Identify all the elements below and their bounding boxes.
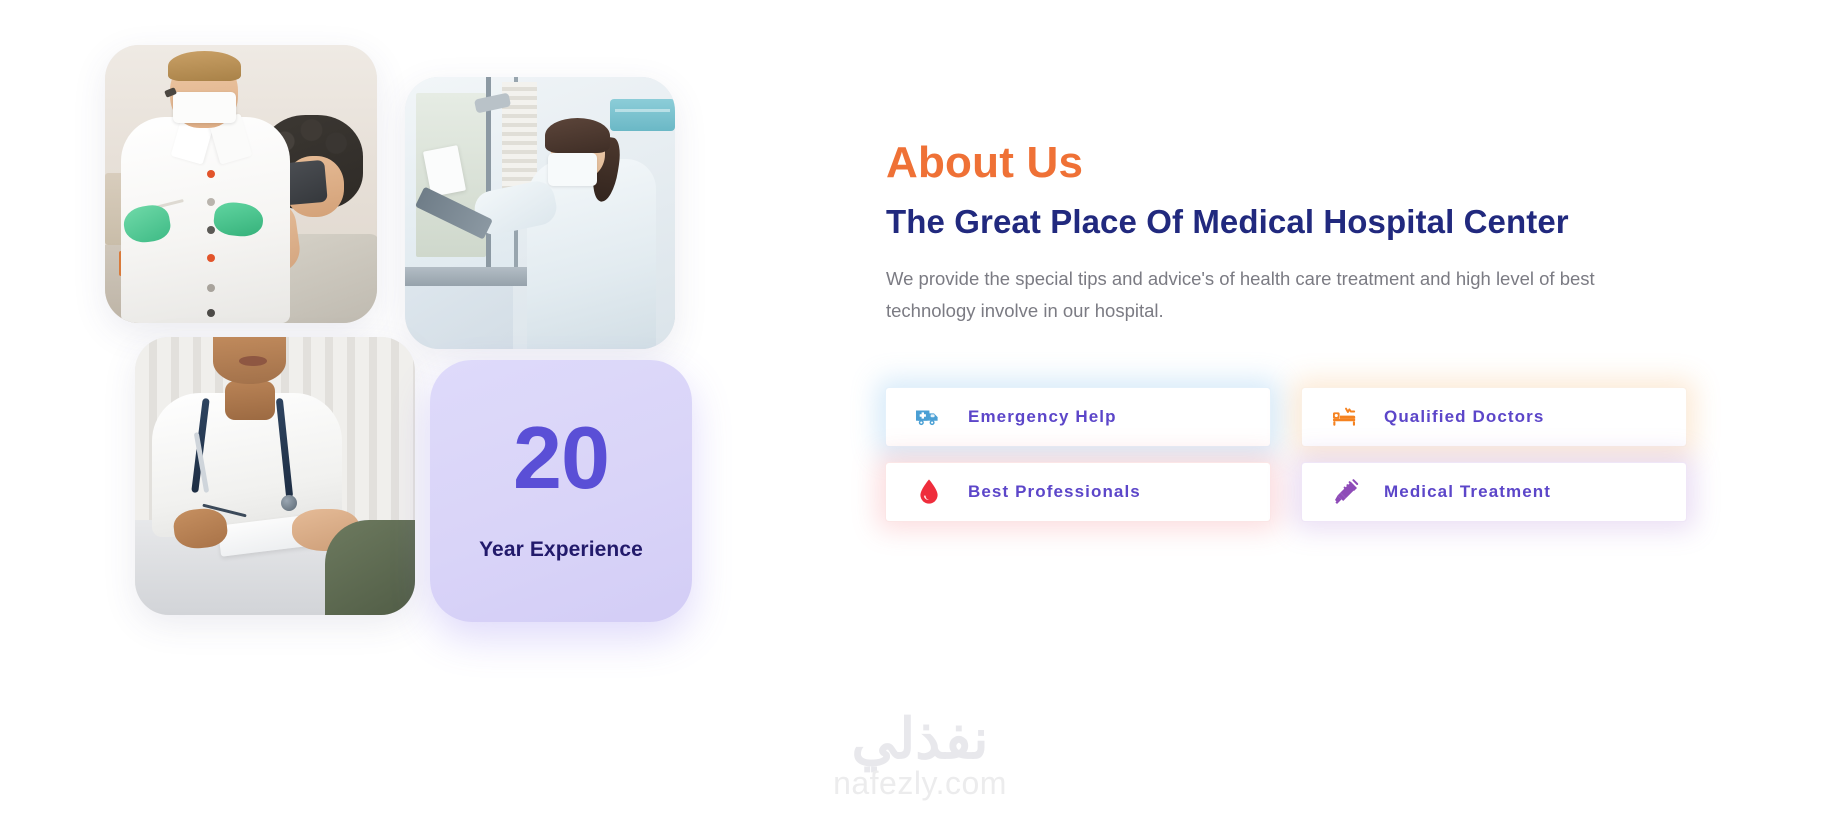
feature-label: Medical Treatment xyxy=(1384,482,1551,502)
about-text-block: About Us The Great Place Of Medical Hosp… xyxy=(886,140,1686,327)
feature-card-emergency-help[interactable]: Emergency Help xyxy=(886,388,1270,446)
watermark-latin-text: nafezly.com xyxy=(805,767,1035,799)
experience-label: Year Experience xyxy=(479,538,643,562)
consultation-photo xyxy=(135,337,415,615)
watermark-arabic-text: نفذلي xyxy=(805,712,1035,765)
window-ppe-photo xyxy=(405,77,675,349)
feature-card-qualified-doctors[interactable]: Qualified Doctors xyxy=(1302,388,1686,446)
feature-card-grid: Emergency Help Qualified Doctors xyxy=(886,388,1686,521)
photo-collage: 20 Year Experience xyxy=(105,45,705,645)
ambulance-icon xyxy=(912,400,946,434)
year-experience-card: 20 Year Experience xyxy=(430,360,692,622)
hospital-bed-monitor-icon xyxy=(1328,400,1362,434)
syringe-icon xyxy=(1328,475,1362,509)
page-title: The Great Place Of Medical Hospital Cent… xyxy=(886,202,1686,242)
vaccination-photo xyxy=(105,45,377,323)
feature-card-best-professionals[interactable]: Best Professionals xyxy=(886,463,1270,521)
blood-drop-icon xyxy=(912,475,946,509)
about-us-section: 20 Year Experience About Us The Great Pl… xyxy=(0,0,1830,826)
section-eyebrow: About Us xyxy=(886,140,1686,186)
section-description: We provide the special tips and advice's… xyxy=(886,263,1621,327)
feature-label: Emergency Help xyxy=(968,407,1117,427)
feature-label: Best Professionals xyxy=(968,482,1141,502)
feature-label: Qualified Doctors xyxy=(1384,407,1544,427)
nafezly-watermark: نفذلي nafezly.com xyxy=(805,712,1035,799)
feature-card-medical-treatment[interactable]: Medical Treatment xyxy=(1302,463,1686,521)
experience-number: 20 xyxy=(513,414,609,502)
